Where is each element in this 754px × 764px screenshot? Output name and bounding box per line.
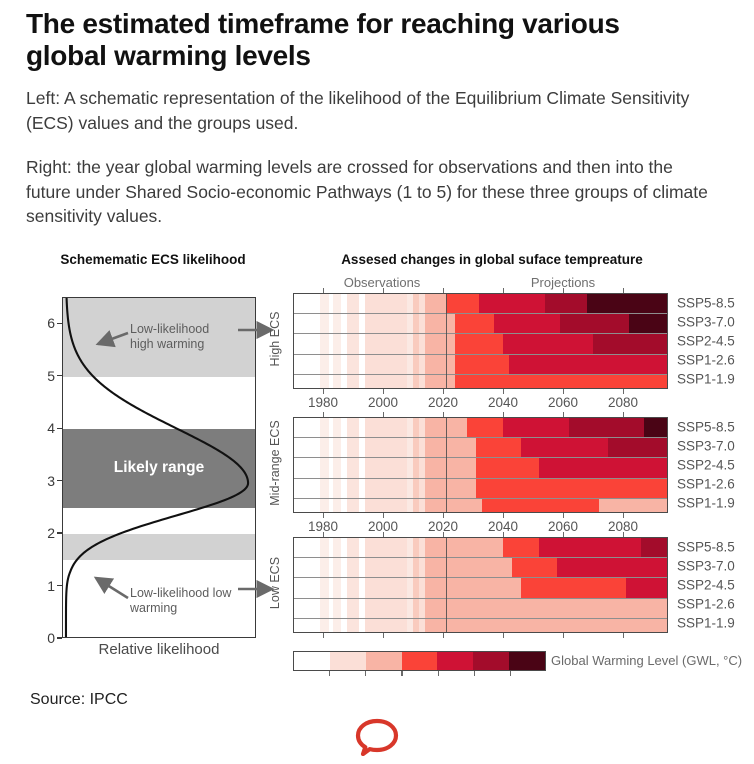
colorbar-swatch xyxy=(437,652,473,670)
heatmap-segment xyxy=(425,334,447,353)
xaxis-tick xyxy=(623,389,624,394)
heatmap-segment xyxy=(455,355,510,374)
heatmap-segment xyxy=(521,578,627,597)
heatmap-segment xyxy=(560,314,630,333)
xaxis-tick-top xyxy=(443,532,444,537)
xaxis-tick xyxy=(323,633,324,638)
left-chart-ytick-mark xyxy=(57,323,62,324)
ssp-row-label-ssp5-8-5: SSP5-8.5 xyxy=(677,539,735,554)
heatmap-segment xyxy=(455,334,504,353)
heatmap-segment xyxy=(587,294,667,313)
heatmap-segment xyxy=(644,418,667,437)
ssp-row-label-ssp5-8-5: SSP5-8.5 xyxy=(677,419,735,434)
heatmap-segment xyxy=(347,418,360,437)
heatmap-segment xyxy=(347,355,360,374)
colorbar-tick xyxy=(401,671,402,676)
heatmap-segment xyxy=(365,499,408,513)
heatmap-row[interactable] xyxy=(294,418,667,438)
colorbar xyxy=(293,651,546,671)
heatmap-segment xyxy=(629,314,667,333)
heatmap-segment xyxy=(294,438,320,457)
xaxis-tick-top xyxy=(563,288,564,293)
left-chart-ytick-mark xyxy=(57,428,62,429)
heatmap-row[interactable] xyxy=(294,619,667,633)
left-chart-ytick-mark xyxy=(57,637,62,638)
xaxis-tick-top xyxy=(383,532,384,537)
xaxis-tick xyxy=(323,513,324,518)
observations-projections-divider xyxy=(446,538,447,632)
xaxis-tick-top xyxy=(563,532,564,537)
heatmap-segment xyxy=(347,538,360,557)
xaxis-tick-top xyxy=(623,532,624,537)
xaxis-tick xyxy=(383,513,384,518)
heatmap-segment xyxy=(294,314,320,333)
xaxis-tick-top xyxy=(563,412,564,417)
heatmap-row[interactable] xyxy=(294,458,667,478)
heatmap-row[interactable] xyxy=(294,314,667,334)
heatmap-segment xyxy=(455,314,495,333)
ssp-row-label-ssp2-4-5: SSP2-4.5 xyxy=(677,334,735,349)
heatmap-row[interactable] xyxy=(294,578,667,598)
heatmap-segment xyxy=(476,479,667,498)
heatmap-segment xyxy=(294,558,320,577)
ssp-row-label-ssp1-1-9: SSP1-1.9 xyxy=(677,616,735,631)
right-chart-title: Assesed changes in global suface temprea… xyxy=(300,252,684,267)
left-chart-ytick-label: 2 xyxy=(47,525,55,541)
heatmap-segment xyxy=(294,619,320,633)
heatmap-segment xyxy=(347,438,360,457)
observations-projections-divider xyxy=(446,294,447,388)
left-chart-ytick-label: 3 xyxy=(47,473,55,489)
ecs-group-label-low-ecs: Low ECS xyxy=(268,535,282,631)
ssp-row-label-ssp5-8-5: SSP5-8.5 xyxy=(677,295,735,310)
ssp-row-label-ssp3-7-0: SSP3-7.0 xyxy=(677,438,735,453)
xaxis-tick-top xyxy=(383,412,384,417)
heatmap-segment xyxy=(479,294,546,313)
heatmap-segment xyxy=(467,418,504,437)
heatmap-segment xyxy=(294,294,320,313)
heatmap-row[interactable] xyxy=(294,479,667,499)
observations-label: Observations xyxy=(322,275,442,290)
heatmap-segment xyxy=(347,479,360,498)
ssp-row-label-ssp2-4-5: SSP2-4.5 xyxy=(677,578,735,593)
xaxis-tick xyxy=(563,513,564,518)
heatmap-segment xyxy=(347,294,360,313)
heatmap-segment xyxy=(425,314,447,333)
heatmap-row[interactable] xyxy=(294,355,667,375)
heatmap-segment xyxy=(599,499,667,513)
xaxis-tick xyxy=(503,389,504,394)
heatmap-segment xyxy=(365,355,408,374)
heatmap-row[interactable] xyxy=(294,558,667,578)
xaxis-tick-top xyxy=(623,412,624,417)
xaxis-tick xyxy=(623,633,624,638)
colorbar-tick xyxy=(510,671,511,676)
ecs-group-label-high-ecs: High ECS xyxy=(268,291,282,387)
xaxis-tick xyxy=(623,513,624,518)
left-chart-ytick-label: 0 xyxy=(47,630,55,646)
heatmap-row[interactable] xyxy=(294,294,667,314)
infographic-root: The estimated timeframe for reaching var… xyxy=(0,0,754,764)
heatmap-segment xyxy=(347,578,360,597)
heatmap-panel-low-ecs xyxy=(293,537,668,633)
heatmap-row[interactable] xyxy=(294,499,667,513)
colorbar-swatch xyxy=(473,652,509,670)
ssp-row-label-ssp1-2-6: SSP1-2.6 xyxy=(677,477,735,492)
heatmap-segment xyxy=(425,558,447,577)
colorbar-tick xyxy=(365,671,366,676)
heatmap-segment xyxy=(557,558,667,577)
xaxis-tick xyxy=(443,389,444,394)
ssp-row-label-ssp2-4-5: SSP2-4.5 xyxy=(677,458,735,473)
heatmap-segment xyxy=(446,458,477,477)
heatmap-segment xyxy=(365,619,408,633)
heatmap-segment xyxy=(446,294,480,313)
ssp-row-label-ssp1-1-9: SSP1-1.9 xyxy=(677,372,735,387)
heatmap-segment xyxy=(545,294,588,313)
xaxis-tick xyxy=(503,633,504,638)
xaxis-tick-label: 2060 xyxy=(548,395,578,410)
xaxis-tick-top xyxy=(323,412,324,417)
heatmap-panel-mid-range-ecs xyxy=(293,417,668,513)
heatmap-segment xyxy=(521,438,609,457)
colorbar-swatch xyxy=(402,652,438,670)
heatmap-segment xyxy=(425,355,447,374)
xaxis-tick xyxy=(383,389,384,394)
heatmap-row[interactable] xyxy=(294,375,667,389)
ssp-row-label-ssp3-7-0: SSP3-7.0 xyxy=(677,314,735,329)
left-chart-ytick-mark xyxy=(57,375,62,376)
heatmap-segment xyxy=(294,355,320,374)
heatmap-segment xyxy=(425,438,447,457)
heatmap-segment xyxy=(446,578,522,597)
xaxis-tick-top xyxy=(623,288,624,293)
colorbar-tick xyxy=(474,671,475,676)
xaxis-tick-top xyxy=(443,288,444,293)
xaxis-tick-top xyxy=(443,412,444,417)
heatmap-segment xyxy=(347,314,360,333)
xaxis-tick xyxy=(383,633,384,638)
left-chart-ytick-label: 1 xyxy=(47,578,55,594)
heatmap-segment xyxy=(446,538,504,557)
left-chart-ytick-label: 4 xyxy=(47,420,55,436)
heatmap-segment xyxy=(482,499,600,513)
heatmap-segment xyxy=(446,499,483,513)
xaxis-tick-top xyxy=(503,288,504,293)
page-title: The estimated timeframe for reaching var… xyxy=(26,8,686,73)
heatmap-segment xyxy=(446,558,513,577)
ssp-row-label-ssp1-2-6: SSP1-2.6 xyxy=(677,353,735,368)
heatmap-segment xyxy=(294,375,320,389)
heatmap-segment xyxy=(512,558,558,577)
xaxis-tick xyxy=(563,633,564,638)
colorbar-tick xyxy=(438,671,439,676)
observations-projections-divider xyxy=(446,418,447,512)
heatmap-segment xyxy=(608,438,667,457)
ssp-row-label-ssp1-2-6: SSP1-2.6 xyxy=(677,597,735,612)
heatmap-segment xyxy=(503,334,594,353)
heatmap-row[interactable] xyxy=(294,599,667,619)
annotation-high-warming: Low-likelihood high warming xyxy=(130,322,236,352)
likely-range-label: Likely range xyxy=(63,459,255,477)
xaxis-tick xyxy=(563,389,564,394)
heatmap-segment xyxy=(365,479,408,498)
heatmap-segment xyxy=(503,418,570,437)
xaxis-tick xyxy=(503,513,504,518)
heatmap-segment xyxy=(476,458,540,477)
colorbar-tick xyxy=(329,671,330,676)
left-chart-ytick-label: 5 xyxy=(47,368,55,384)
heatmap-row[interactable] xyxy=(294,438,667,458)
xaxis-tick-label: 2020 xyxy=(428,395,458,410)
heatmap-segment xyxy=(347,334,360,353)
heatmap-segment xyxy=(626,578,667,597)
heatmap-segment xyxy=(294,334,320,353)
subtitle-line-2: Right: the year global warming levels ar… xyxy=(26,155,716,230)
heatmap-segment xyxy=(425,538,447,557)
xaxis-tick-label: 2000 xyxy=(368,395,398,410)
xaxis-tick-top xyxy=(503,532,504,537)
xaxis-tick-label: 1980 xyxy=(308,395,338,410)
xaxis-tick xyxy=(323,389,324,394)
heatmap-segment xyxy=(503,538,540,557)
heatmap-segment xyxy=(446,599,667,618)
heatmap-segment xyxy=(365,314,408,333)
colorbar-swatch xyxy=(330,652,366,670)
heatmap-segment xyxy=(494,314,561,333)
heatmap-segment xyxy=(446,619,667,633)
heatmap-segment xyxy=(365,334,408,353)
heatmap-segment xyxy=(347,599,360,618)
heatmap-row[interactable] xyxy=(294,334,667,354)
ssp-row-label-ssp1-1-9: SSP1-1.9 xyxy=(677,496,735,511)
heatmap-segment xyxy=(425,619,447,633)
xaxis-tick xyxy=(443,513,444,518)
heatmap-segment xyxy=(455,375,667,389)
heatmap-segment xyxy=(347,458,360,477)
heatmap-segment xyxy=(425,458,447,477)
xaxis-tick-top xyxy=(383,288,384,293)
heatmap-segment xyxy=(365,538,408,557)
heatmap-segment xyxy=(347,619,360,633)
heatmap-segment xyxy=(425,499,447,513)
heatmap-segment xyxy=(365,375,408,389)
heatmap-segment xyxy=(539,538,642,557)
xaxis-tick-top xyxy=(503,412,504,417)
heatmap-segment xyxy=(446,479,477,498)
ssp-row-label-ssp3-7-0: SSP3-7.0 xyxy=(677,558,735,573)
colorbar-swatch xyxy=(366,652,402,670)
heatmap-segment xyxy=(425,418,447,437)
heatmap-segment xyxy=(365,294,408,313)
subtitle-line-1: Left: A schematic representation of the … xyxy=(26,86,716,136)
heatmap-segment xyxy=(641,538,667,557)
page-subtitle: Left: A schematic representation of the … xyxy=(26,86,716,229)
heatmap-segment xyxy=(365,599,408,618)
xaxis-tick xyxy=(443,633,444,638)
left-chart-title: Schemematic ECS likelihood xyxy=(20,252,286,267)
heatmap-segment xyxy=(294,578,320,597)
left-chart-ytick-mark xyxy=(57,585,62,586)
heatmap-row[interactable] xyxy=(294,538,667,558)
colorbar-label: Global Warming Level (GWL, °C) xyxy=(551,653,742,668)
heatmap-segment xyxy=(476,438,522,457)
heatmap-segment xyxy=(294,479,320,498)
heatmap-segment xyxy=(365,558,408,577)
heatmap-segment xyxy=(425,479,447,498)
annotation-low-warming: Low-likelihood low warming xyxy=(130,586,236,616)
heatmap-segment xyxy=(509,355,667,374)
heatmap-segment xyxy=(425,578,447,597)
heatmap-segment xyxy=(446,438,477,457)
heatmap-segment xyxy=(425,375,447,389)
heatmap-segment xyxy=(539,458,667,477)
xaxis-tick-label: 2080 xyxy=(608,395,638,410)
left-chart-ytick-label: 6 xyxy=(47,315,55,331)
source-credit: Source: IPCC xyxy=(30,691,128,709)
heatmap-segment xyxy=(294,499,320,513)
left-chart-ytick-mark xyxy=(57,480,62,481)
left-chart-xlabel: Relative likelihood xyxy=(62,641,256,658)
conversation-logo-icon xyxy=(355,718,399,756)
heatmap-segment xyxy=(347,499,360,513)
heatmap-segment xyxy=(593,334,667,353)
heatmap-segment xyxy=(425,599,447,618)
heatmap-segment xyxy=(425,294,447,313)
heatmap-segment xyxy=(365,458,408,477)
heatmap-segment xyxy=(294,458,320,477)
xaxis-tick-label: 2040 xyxy=(488,395,518,410)
heatmap-segment xyxy=(365,418,408,437)
heatmap-segment xyxy=(347,558,360,577)
heatmap-segment xyxy=(294,418,320,437)
heatmap-segment xyxy=(347,375,360,389)
heatmap-segment xyxy=(446,418,468,437)
heatmap-segment xyxy=(365,438,408,457)
colorbar-swatch xyxy=(294,652,330,670)
heatmap-segment xyxy=(294,599,320,618)
heatmap-segment xyxy=(365,578,408,597)
left-chart-ytick-mark xyxy=(57,532,62,533)
ecs-group-label-mid-range-ecs: Mid-range ECS xyxy=(268,415,282,511)
xaxis-tick-top xyxy=(323,288,324,293)
heatmap-panel-high-ecs xyxy=(293,293,668,389)
xaxis-tick-top xyxy=(323,532,324,537)
heatmap-segment xyxy=(294,538,320,557)
heatmap-segment xyxy=(569,418,645,437)
colorbar-swatch xyxy=(509,652,545,670)
